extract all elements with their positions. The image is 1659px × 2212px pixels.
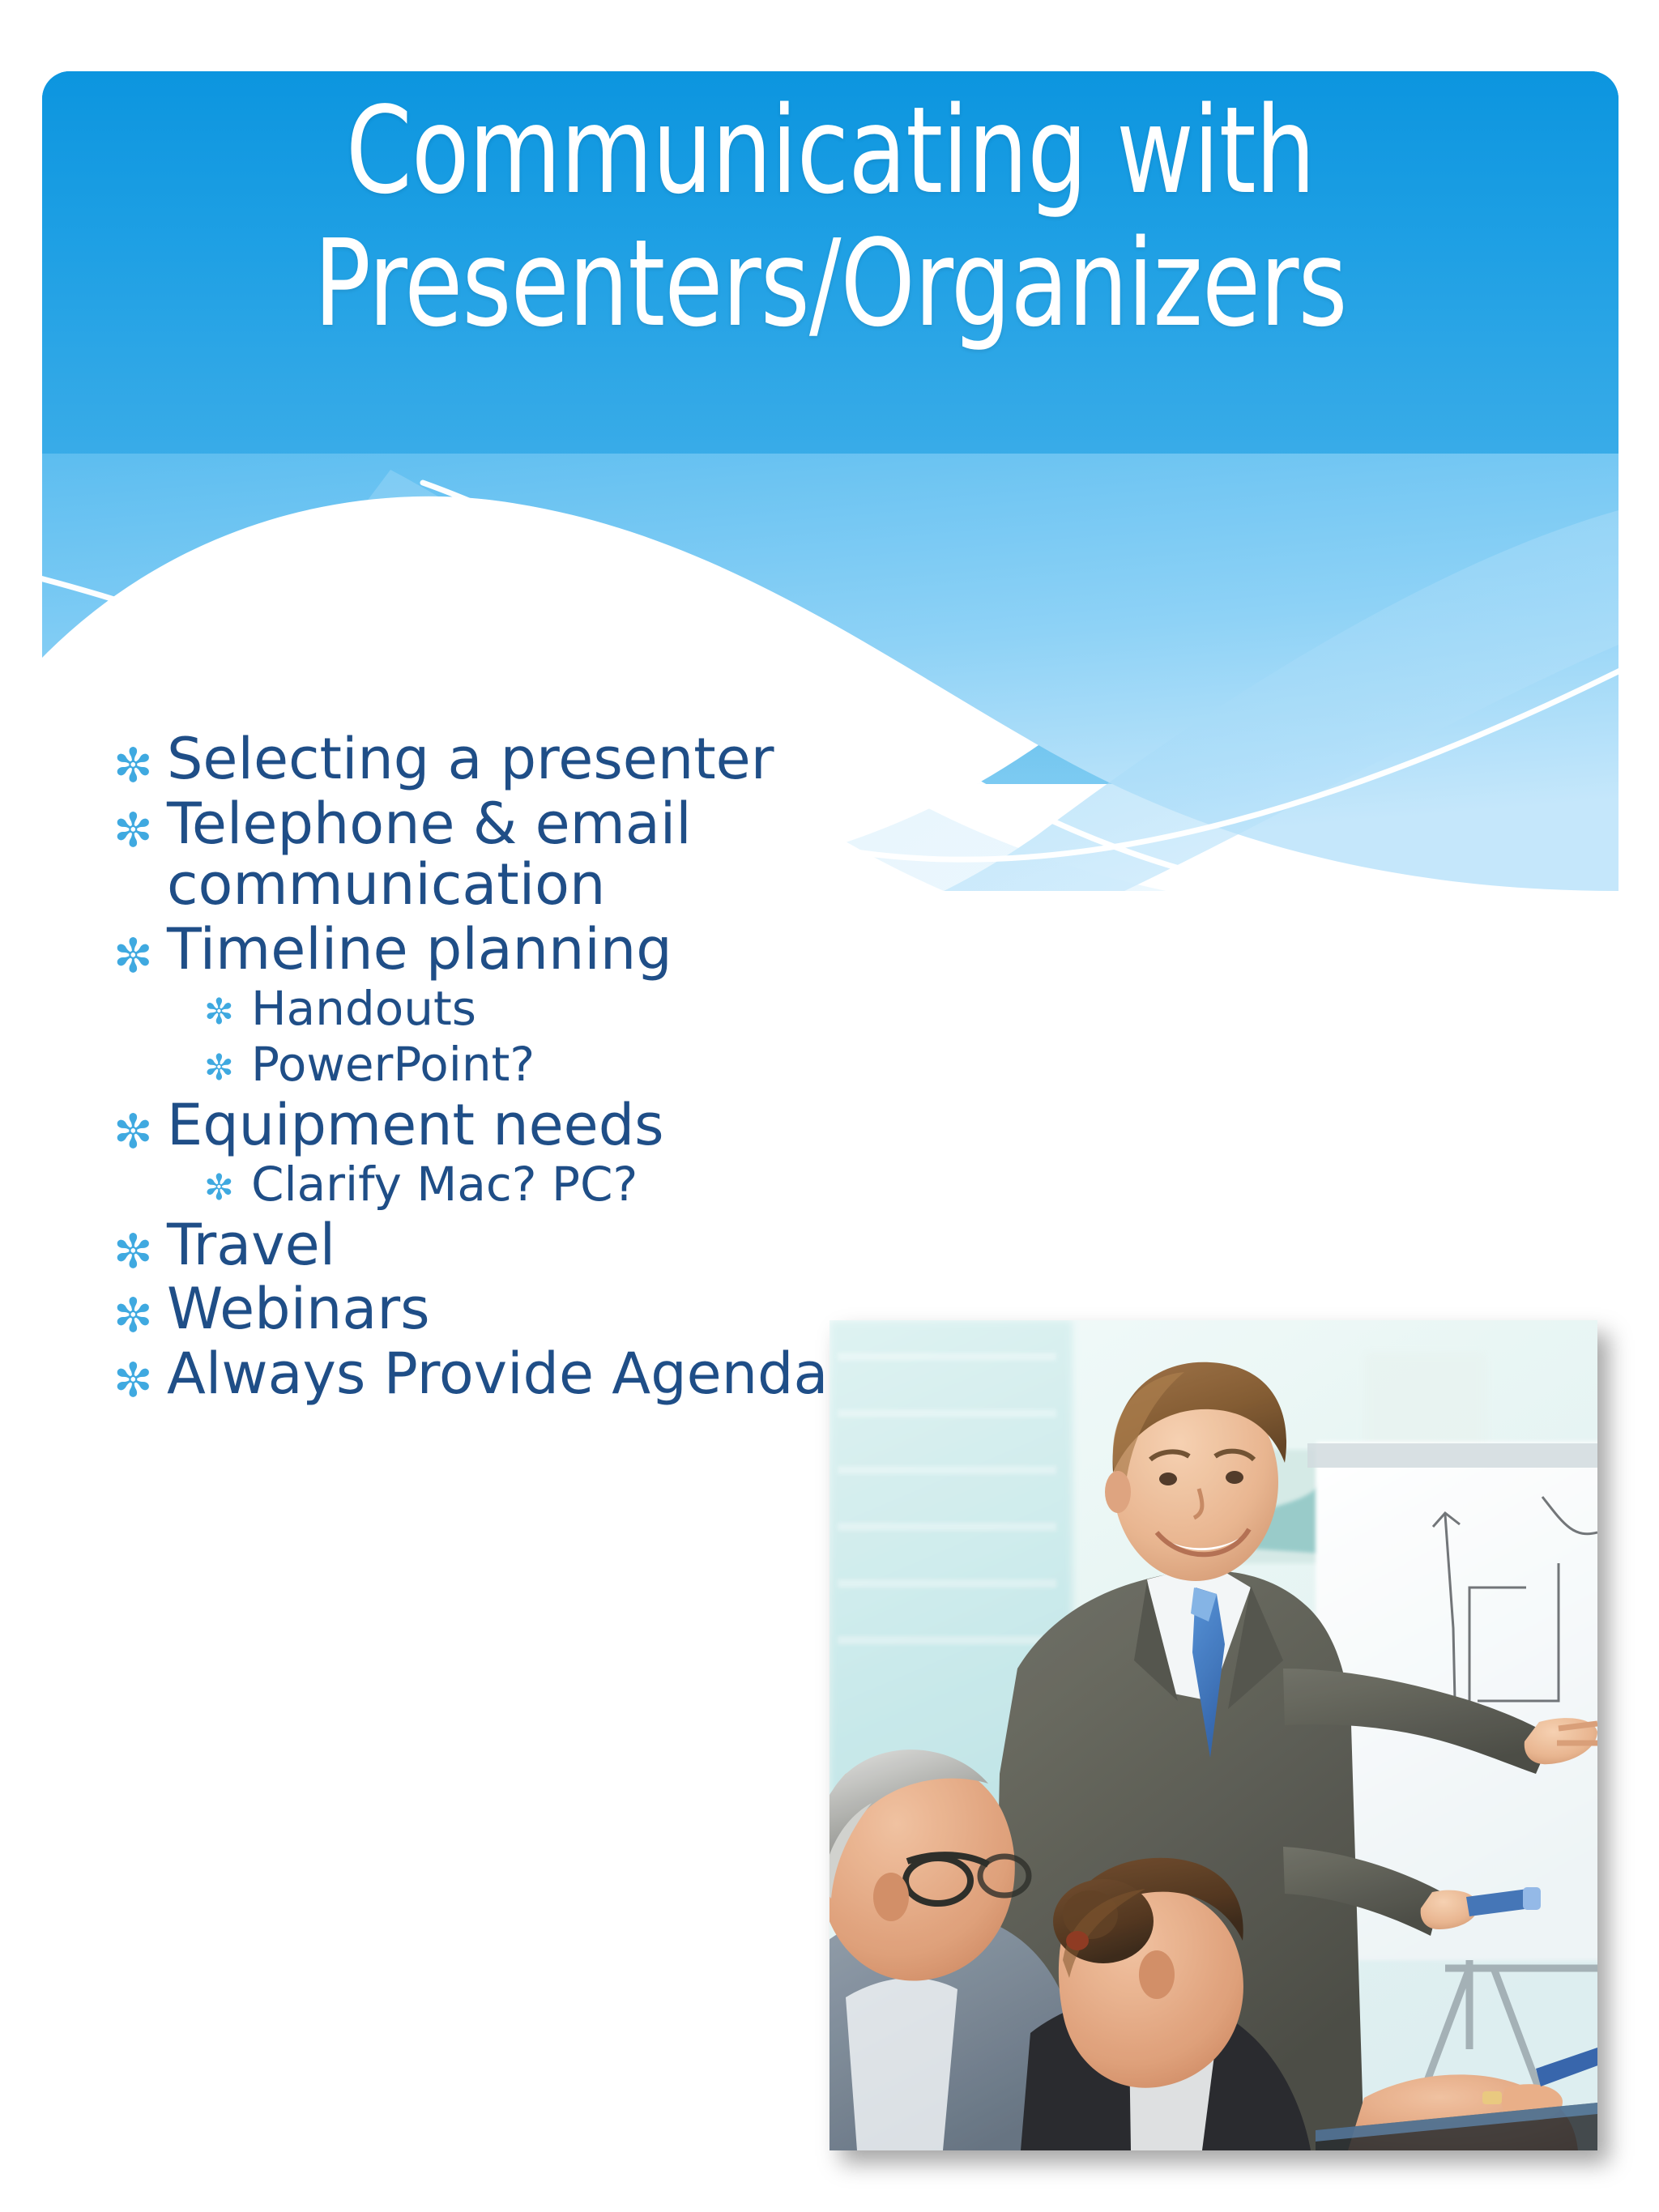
list-item[interactable]: ✼ Always Provide Agenda — [113, 1344, 842, 1405]
list-item-label: Telephone & email communication — [167, 794, 842, 916]
flower-bullet-icon: ✼ — [113, 729, 167, 789]
list-item-label: Always Provide Agenda — [167, 1344, 828, 1405]
list-item-label: Webinars — [167, 1279, 430, 1340]
list-item[interactable]: ✼ PowerPoint? — [113, 1039, 842, 1090]
list-item-label: Timeline planning — [167, 919, 672, 981]
banner-background-graphic — [42, 71, 1618, 784]
flower-bullet-icon: ✼ — [204, 1159, 251, 1206]
meeting-photo-graphic — [829, 1320, 1597, 2150]
flower-bullet-icon: ✼ — [113, 1215, 167, 1275]
flower-bullet-icon: ✼ — [204, 983, 251, 1030]
list-item-label: Selecting a presenter — [167, 729, 774, 791]
flower-bullet-icon: ✼ — [113, 1344, 167, 1404]
list-item[interactable]: ✼ Selecting a presenter — [113, 729, 842, 791]
list-item-label: Clarify Mac? PC? — [251, 1159, 638, 1210]
list-item[interactable]: ✼ Webinars — [113, 1279, 842, 1340]
list-item-label: Travel — [167, 1215, 335, 1276]
list-item-label: Handouts — [251, 983, 476, 1034]
list-item[interactable]: ✼ Handouts — [113, 983, 842, 1034]
list-item[interactable]: ✼ Travel — [113, 1215, 842, 1276]
list-item[interactable]: ✼ Telephone & email communication — [113, 794, 842, 916]
bullet-list: ✼ Selecting a presenter ✼ Telephone & em… — [113, 729, 842, 1409]
list-item-label: PowerPoint? — [251, 1039, 535, 1090]
presentation-slide: Communicating with Presenters/Organizers — [0, 0, 1659, 2212]
meeting-photo — [829, 1320, 1597, 2150]
flower-bullet-icon: ✼ — [113, 794, 167, 854]
list-item[interactable]: ✼ Timeline planning — [113, 919, 842, 981]
flower-bullet-icon: ✼ — [113, 1095, 167, 1155]
flower-bullet-icon: ✼ — [113, 1279, 167, 1339]
title-banner — [42, 71, 1618, 784]
list-item[interactable]: ✼ Equipment needs — [113, 1095, 842, 1157]
list-item-label: Equipment needs — [167, 1095, 664, 1157]
list-item[interactable]: ✼ Clarify Mac? PC? — [113, 1159, 842, 1210]
flower-bullet-icon: ✼ — [113, 919, 167, 979]
flower-bullet-icon: ✼ — [204, 1039, 251, 1086]
